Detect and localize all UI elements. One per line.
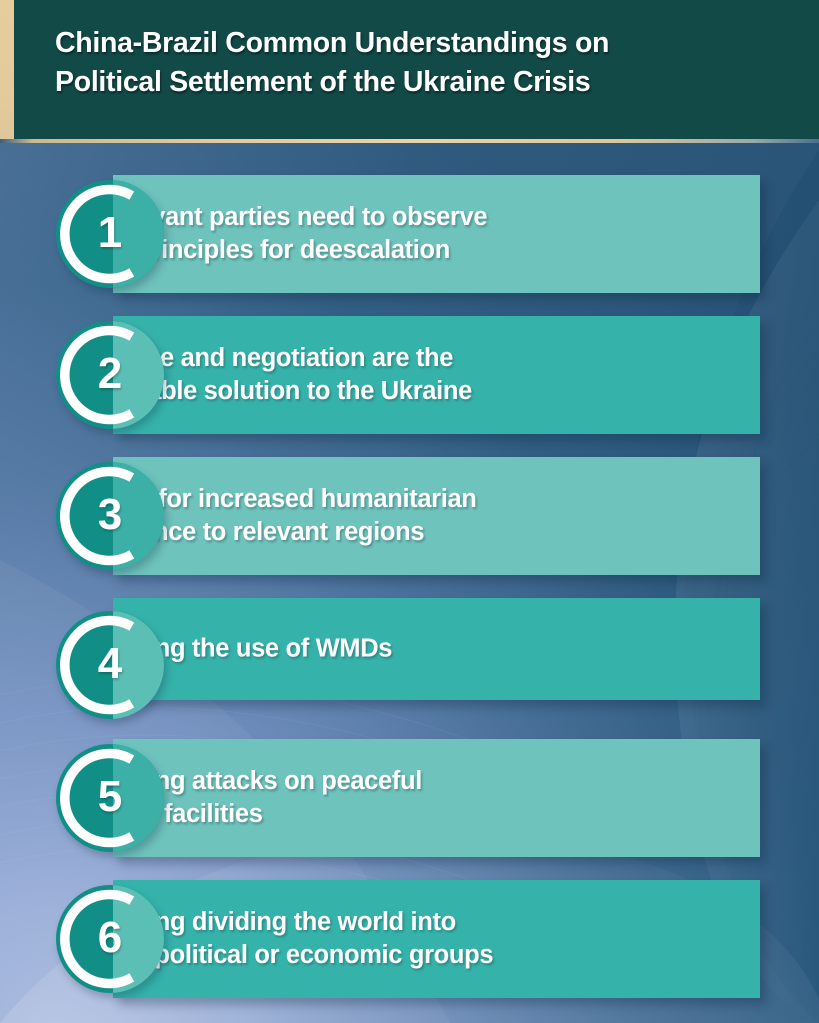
item-number-badge: 5: [56, 744, 164, 852]
header-banner: China-Brazil Common Understandings on Po…: [0, 0, 819, 141]
item-number-6: 6: [56, 885, 164, 993]
item-number-5: 5: [56, 744, 164, 852]
page-title: China-Brazil Common Understandings on Po…: [55, 24, 785, 102]
list-item-5[interactable]: 5 Opposing attacks on peacefulnuclear fa…: [0, 731, 819, 873]
page-title-line-1: China-Brazil Common Understandings on: [55, 24, 785, 63]
understanding-list: 1 All relevant parties need to observeth…: [0, 141, 819, 1023]
header-divider-rule: [0, 139, 819, 143]
item-number-badge: 6: [56, 885, 164, 993]
header-accent-strip: [0, 0, 14, 141]
infographic-root: China-Brazil Common Understandings on Po…: [0, 0, 819, 1023]
item-text-3: Calling for increased humanitarianassist…: [69, 483, 801, 549]
item-text-4: Opposing the use of WMDs: [69, 632, 801, 665]
item-text-line-2: assistance to relevant regions: [69, 516, 801, 549]
item-number-badge: 1: [56, 180, 164, 288]
item-text-line-1: Opposing the use of WMDs: [69, 632, 801, 665]
item-number-4: 4: [56, 611, 164, 719]
item-text-line-1: Dialogue and negotiation are the: [69, 342, 801, 375]
item-number-badge: 3: [56, 462, 164, 570]
item-text-2: Dialogue and negotiation are theonly via…: [69, 342, 801, 408]
item-text-line-2: three principles for deescalation: [69, 234, 801, 267]
item-text-line-1: Opposing dividing the world into: [69, 906, 801, 939]
list-item-6[interactable]: 6 Opposing dividing the world intoclosed…: [0, 872, 819, 1014]
item-text-6: Opposing dividing the world intoclosed p…: [69, 906, 801, 972]
item-number-badge: 2: [56, 321, 164, 429]
item-text-line-2: closed political or economic groups: [69, 939, 801, 972]
item-number-badge: 4: [56, 611, 164, 719]
item-text-line-1: Calling for increased humanitarian: [69, 483, 801, 516]
list-item-1[interactable]: 1 All relevant parties need to observeth…: [0, 167, 819, 309]
item-text-line-2: only viable solution to the Ukraine: [69, 375, 801, 408]
list-item-3[interactable]: 3 Calling for increased humanitarianassi…: [0, 449, 819, 591]
item-text-1: All relevant parties need to observethre…: [69, 201, 801, 267]
item-text-5: Opposing attacks on peacefulnuclear faci…: [69, 765, 801, 831]
list-item-2[interactable]: 2 Dialogue and negotiation are theonly v…: [0, 308, 819, 450]
item-number-2: 2: [56, 321, 164, 429]
page-title-line-2: Political Settlement of the Ukraine Cris…: [55, 63, 785, 102]
item-text-line-1: Opposing attacks on peaceful: [69, 765, 801, 798]
item-text-line-2: nuclear facilities: [69, 798, 801, 831]
item-number-1: 1: [56, 180, 164, 288]
item-text-line-1: All relevant parties need to observe: [69, 201, 801, 234]
item-number-3: 3: [56, 462, 164, 570]
list-item-4[interactable]: 4 Opposing the use of WMDs: [0, 590, 819, 716]
